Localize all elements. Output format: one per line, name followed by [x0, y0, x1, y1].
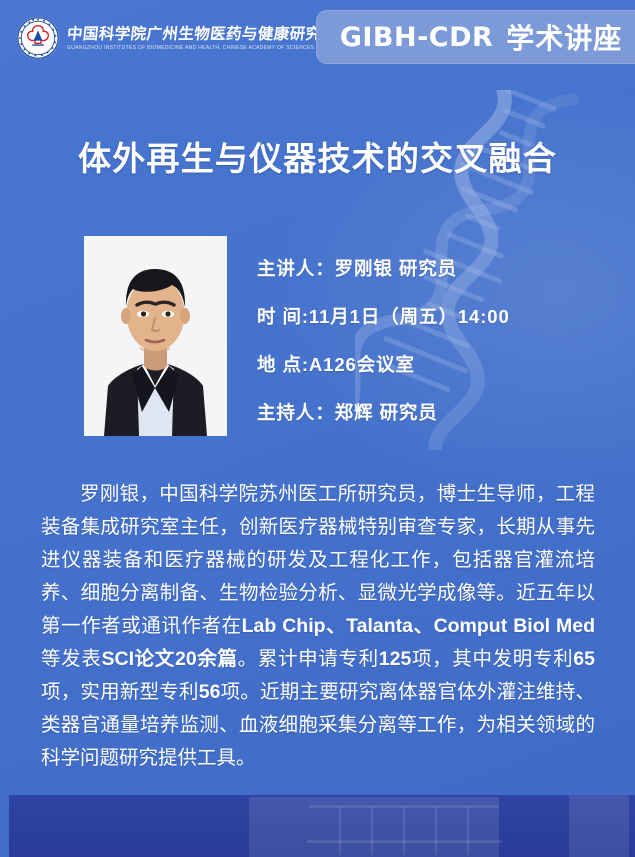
institute-name-en: GUANGZHOU INSTITUTES OF BIOMEDICINE AND … [67, 46, 337, 52]
band-building-block [339, 807, 341, 855]
bio-part2: 等发表 [41, 649, 101, 670]
institute-logo: 中国科学院广州生物医药与健康研究院 GUANGZHOU INSTITUTES O… [16, 16, 337, 60]
detail-host: 主持人：郑辉 研究员 [257, 399, 617, 425]
bio-metric-papers: SCI论文20余篇 [101, 648, 237, 670]
band-building-block [569, 795, 629, 857]
band-building-block [371, 807, 373, 855]
bio-metric-patents: 125 [379, 648, 412, 670]
bottom-building-band [9, 795, 635, 857]
speaker-portrait-image [84, 236, 227, 436]
detail-venue: 地 点:A126会议室 [257, 351, 617, 377]
band-building-block [467, 807, 469, 855]
bio-metric-invention: 65 [573, 648, 595, 670]
speaker-biography: 罗刚银，中国科学院苏州医工所研究员，博士生导师，工程装备集成研究室主任，创新医疗… [41, 478, 595, 775]
badge-code: GIBH-CDR [340, 22, 494, 53]
poster-header: 中国科学院广州生物医药与健康研究院 GUANGZHOU INSTITUTES O… [0, 0, 635, 78]
lecture-details: 主讲人：罗刚银 研究员 时 间:11月1日（周五）14:00 地 点:A126会… [257, 255, 617, 425]
bio-part3: 。累计申请专利 [238, 649, 379, 670]
lecture-title: 体外再生与仪器技术的交叉融合 [0, 132, 635, 180]
lecture-series-badge: GIBH-CDR 学术讲座 [316, 10, 635, 64]
cas-gibh-emblem-icon [16, 16, 60, 60]
bio-part5: 项，实用新型专利 [41, 682, 199, 703]
detail-time: 时 间:11月1日（周五）14:00 [257, 303, 617, 329]
speaker-portrait [84, 236, 227, 436]
lecture-poster: 中国科学院广州生物医药与健康研究院 GUANGZHOU INSTITUTES O… [0, 0, 635, 857]
badge-label: 学术讲座 [506, 17, 622, 57]
detail-speaker: 主讲人：罗刚银 研究员 [257, 255, 617, 281]
institute-name-cn: 中国科学院广州生物医药与健康研究院 [66, 26, 338, 43]
band-building-block [403, 807, 405, 855]
bio-part4: 项，其中发明专利 [411, 649, 573, 670]
bio-metric-utility: 56 [199, 681, 221, 703]
bio-journals: Lab Chip、Talanta、Comput Biol Med [242, 615, 595, 637]
band-building-block [435, 807, 437, 855]
